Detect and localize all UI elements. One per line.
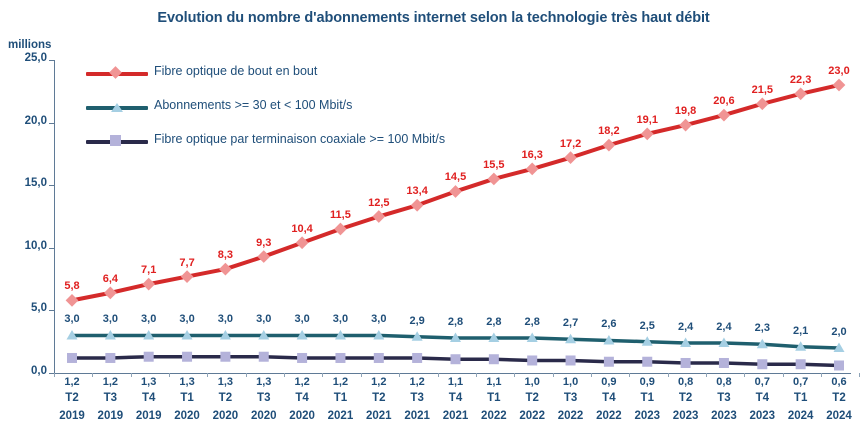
data-point-marker bbox=[527, 355, 537, 365]
data-point-marker bbox=[449, 185, 462, 198]
x-axis-quarter-label: T3 bbox=[257, 392, 270, 404]
x-axis-quarter-label: T3 bbox=[564, 392, 577, 404]
data-point-marker bbox=[142, 278, 155, 291]
data-point-marker bbox=[487, 173, 500, 186]
x-axis-year-label: 2022 bbox=[558, 410, 584, 422]
data-point-label: 2,4 bbox=[678, 321, 693, 333]
data-point-marker bbox=[794, 87, 807, 100]
data-point-marker bbox=[719, 358, 729, 368]
data-point-label: 2,8 bbox=[486, 316, 501, 328]
data-point-label: 1,1 bbox=[448, 376, 463, 388]
data-point-label: 6,4 bbox=[103, 273, 118, 285]
data-point-label: 1,3 bbox=[256, 376, 271, 388]
data-point-label: 15,5 bbox=[483, 159, 504, 171]
legend-label: Fibre optique de bout en bout bbox=[154, 64, 317, 78]
data-point-marker bbox=[182, 352, 192, 362]
x-axis-quarter-label: T2 bbox=[65, 392, 78, 404]
data-point-label: 14,5 bbox=[445, 171, 466, 183]
data-point-label: 22,3 bbox=[790, 74, 811, 86]
data-point-marker bbox=[259, 352, 269, 362]
data-point-label: 20,6 bbox=[713, 95, 734, 107]
x-axis-year-label: 2024 bbox=[788, 410, 814, 422]
data-point-marker bbox=[604, 357, 614, 367]
data-point-label: 2,9 bbox=[409, 315, 424, 327]
data-point-marker bbox=[833, 79, 846, 92]
legend-label: Abonnements >= 30 et < 100 Mbit/s bbox=[154, 98, 352, 112]
data-point-label: 0,8 bbox=[678, 376, 693, 388]
data-point-marker bbox=[374, 353, 384, 363]
data-point-label: 7,7 bbox=[179, 257, 194, 269]
data-point-label: 1,3 bbox=[141, 376, 156, 388]
data-point-marker bbox=[181, 270, 194, 283]
x-axis-year-label: 2023 bbox=[634, 410, 660, 422]
data-point-label: 11,5 bbox=[330, 209, 351, 221]
data-point-label: 19,1 bbox=[637, 114, 658, 126]
data-point-label: 1,1 bbox=[486, 376, 501, 388]
x-axis-quarter-label: T2 bbox=[832, 392, 845, 404]
data-point-label: 1,2 bbox=[409, 376, 424, 388]
x-axis-quarter-label: T2 bbox=[525, 392, 538, 404]
data-point-label: 3,0 bbox=[218, 313, 233, 325]
data-point-label: 3,0 bbox=[141, 313, 156, 325]
data-point-marker bbox=[526, 163, 539, 176]
data-point-marker bbox=[105, 353, 115, 363]
data-point-label: 0,9 bbox=[640, 376, 655, 388]
data-point-marker bbox=[681, 358, 691, 368]
data-point-marker bbox=[296, 236, 309, 249]
x-axis-year-label: 2020 bbox=[174, 410, 200, 422]
x-axis-year-label: 2022 bbox=[481, 410, 507, 422]
data-point-label: 3,0 bbox=[294, 313, 309, 325]
data-point-label: 2,1 bbox=[793, 325, 808, 337]
data-point-label: 7,1 bbox=[141, 264, 156, 276]
data-point-marker bbox=[564, 151, 577, 164]
data-point-label: 13,4 bbox=[406, 185, 427, 197]
chart-container: Evolution du nombre d'abonnements intern… bbox=[0, 0, 867, 439]
data-point-label: 23,0 bbox=[828, 65, 849, 77]
data-point-label: 1,0 bbox=[563, 376, 578, 388]
data-point-marker bbox=[412, 353, 422, 363]
data-point-marker bbox=[335, 353, 345, 363]
x-axis-year-label: 2019 bbox=[136, 410, 162, 422]
x-axis-quarter-label: T3 bbox=[717, 392, 730, 404]
data-point-label: 12,5 bbox=[368, 197, 389, 209]
data-point-marker bbox=[104, 287, 117, 300]
data-point-label: 2,0 bbox=[831, 326, 846, 338]
x-axis-year-label: 2024 bbox=[826, 410, 852, 422]
data-point-label: 1,2 bbox=[294, 376, 309, 388]
data-point-label: 0,7 bbox=[755, 376, 770, 388]
x-axis-year-label: 2021 bbox=[443, 410, 469, 422]
data-point-marker bbox=[297, 353, 307, 363]
x-axis-quarter-label: T4 bbox=[756, 392, 769, 404]
data-point-label: 16,3 bbox=[521, 149, 542, 161]
data-point-marker bbox=[756, 97, 769, 110]
legend-marker-square-icon bbox=[111, 136, 121, 146]
data-point-label: 2,8 bbox=[525, 316, 540, 328]
x-axis-quarter-label: T1 bbox=[334, 392, 347, 404]
x-axis-year-label: 2023 bbox=[750, 410, 776, 422]
x-axis-quarter-label: T4 bbox=[142, 392, 155, 404]
data-point-label: 9,3 bbox=[256, 237, 271, 249]
data-point-marker bbox=[796, 359, 806, 369]
data-point-label: 0,6 bbox=[831, 376, 846, 388]
x-axis-quarter-label: T2 bbox=[219, 392, 232, 404]
x-axis-year-label: 2023 bbox=[711, 410, 737, 422]
x-axis-year-label: 2021 bbox=[366, 410, 392, 422]
series-lines bbox=[0, 0, 867, 439]
x-axis-year-label: 2022 bbox=[596, 410, 622, 422]
x-axis-quarter-label: T2 bbox=[372, 392, 385, 404]
data-point-label: 3,0 bbox=[179, 313, 194, 325]
x-axis-year-label: 2020 bbox=[251, 410, 277, 422]
x-axis-year-label: 2021 bbox=[328, 410, 354, 422]
data-point-label: 3,0 bbox=[333, 313, 348, 325]
data-point-label: 10,4 bbox=[291, 223, 312, 235]
x-axis-year-label: 2020 bbox=[213, 410, 239, 422]
data-point-label: 1,2 bbox=[333, 376, 348, 388]
data-point-marker bbox=[642, 357, 652, 367]
x-axis-quarter-label: T3 bbox=[104, 392, 117, 404]
x-axis-quarter-label: T1 bbox=[487, 392, 500, 404]
data-point-marker bbox=[566, 355, 576, 365]
x-axis-quarter-label: T4 bbox=[449, 392, 462, 404]
data-point-marker bbox=[641, 128, 654, 141]
data-point-marker bbox=[757, 359, 767, 369]
data-point-marker bbox=[834, 360, 844, 370]
x-axis-quarter-label: T4 bbox=[602, 392, 615, 404]
x-axis-year-label: 2022 bbox=[519, 410, 545, 422]
data-point-label: 8,3 bbox=[218, 249, 233, 261]
x-axis-quarter-label: T3 bbox=[410, 392, 423, 404]
data-point-label: 2,3 bbox=[755, 322, 770, 334]
data-point-marker bbox=[718, 109, 731, 122]
data-point-label: 1,2 bbox=[103, 376, 118, 388]
data-point-label: 1,2 bbox=[64, 376, 79, 388]
x-axis-quarter-label: T1 bbox=[180, 392, 193, 404]
x-axis-quarter-label: T4 bbox=[295, 392, 308, 404]
data-point-label: 19,8 bbox=[675, 105, 696, 117]
data-point-label: 2,4 bbox=[716, 321, 731, 333]
data-point-label: 5,8 bbox=[64, 280, 79, 292]
data-point-label: 2,8 bbox=[448, 316, 463, 328]
data-point-label: 18,2 bbox=[598, 125, 619, 137]
legend-marker-diamond-icon bbox=[111, 68, 120, 77]
data-point-marker bbox=[411, 199, 424, 212]
data-point-marker bbox=[257, 250, 270, 263]
x-axis-year-label: 2019 bbox=[98, 410, 124, 422]
x-axis-year-label: 2023 bbox=[673, 410, 699, 422]
data-point-label: 1,2 bbox=[371, 376, 386, 388]
legend-label: Fibre optique par terminaison coaxiale >… bbox=[154, 132, 445, 146]
data-point-label: 3,0 bbox=[256, 313, 271, 325]
data-point-label: 0,9 bbox=[601, 376, 616, 388]
data-point-label: 2,7 bbox=[563, 317, 578, 329]
data-point-marker bbox=[679, 119, 692, 132]
x-axis-quarter-label: T2 bbox=[679, 392, 692, 404]
data-point-marker bbox=[219, 263, 232, 276]
data-point-label: 2,5 bbox=[640, 320, 655, 332]
x-axis-year-label: 2021 bbox=[404, 410, 430, 422]
data-point-label: 0,8 bbox=[716, 376, 731, 388]
x-axis-year-label: 2019 bbox=[59, 410, 85, 422]
data-point-label: 1,3 bbox=[218, 376, 233, 388]
data-point-marker bbox=[334, 223, 347, 236]
data-point-marker bbox=[372, 210, 385, 223]
data-point-marker bbox=[220, 352, 230, 362]
data-point-marker bbox=[603, 139, 616, 152]
data-point-label: 0,7 bbox=[793, 376, 808, 388]
data-point-label: 1,0 bbox=[525, 376, 540, 388]
data-point-label: 3,0 bbox=[64, 313, 79, 325]
data-point-marker bbox=[66, 294, 79, 307]
data-point-label: 3,0 bbox=[371, 313, 386, 325]
data-point-marker bbox=[451, 354, 461, 364]
legend-marker-triangle-icon bbox=[111, 102, 123, 112]
data-point-marker bbox=[144, 352, 154, 362]
x-axis-quarter-label: T1 bbox=[794, 392, 807, 404]
data-point-marker bbox=[67, 353, 77, 363]
data-point-marker bbox=[489, 354, 499, 364]
data-point-label: 17,2 bbox=[560, 138, 581, 150]
data-point-label: 2,6 bbox=[601, 318, 616, 330]
data-point-label: 21,5 bbox=[752, 84, 773, 96]
x-axis-year-label: 2020 bbox=[289, 410, 315, 422]
data-point-label: 3,0 bbox=[103, 313, 118, 325]
x-axis-quarter-label: T1 bbox=[641, 392, 654, 404]
data-point-label: 1,3 bbox=[179, 376, 194, 388]
